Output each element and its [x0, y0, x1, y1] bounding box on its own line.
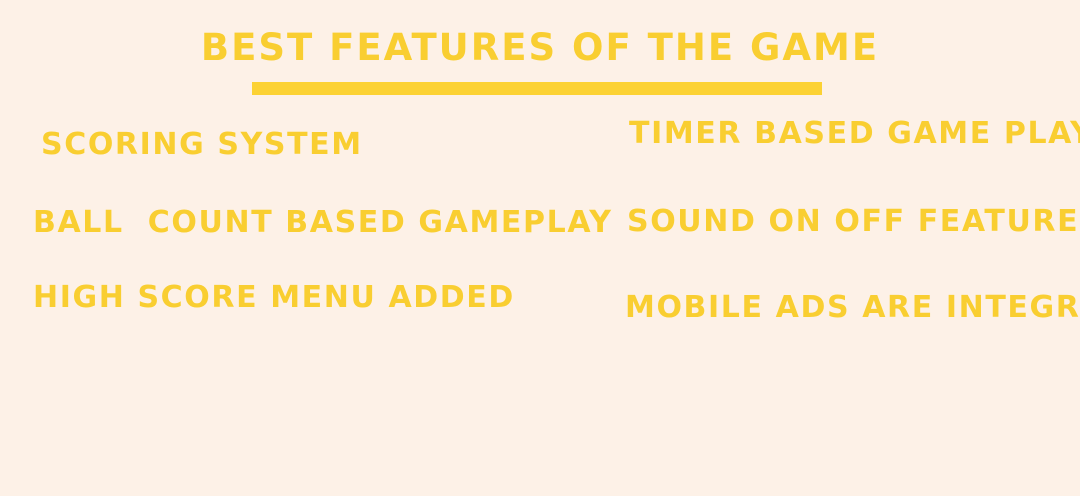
- feature-item-ball-count-based-gameplay: BALL COUNT BASED GAMEPLAY: [33, 206, 613, 240]
- feature-item-high-score-menu-added: HIGH SCORE MENU ADDED: [33, 281, 515, 315]
- feature-item-scoring-system: SCORING SYSTEM: [41, 128, 363, 162]
- presentation-slide: BEST FEATURES OF THE GAME SCORING SYSTEM…: [0, 0, 1080, 496]
- feature-item-mobile-ads-are-integrated: MOBILE ADS ARE INTEGRATED: [625, 291, 1080, 325]
- feature-item-timer-based-game-play: TIMER BASED GAME PLAY: [629, 117, 1080, 151]
- feature-item-sound-on-off-feature: SOUND ON OFF FEATURE: [627, 205, 1079, 239]
- feature-list: SCORING SYSTEM BALL COUNT BASED GAMEPLAY…: [0, 0, 1080, 496]
